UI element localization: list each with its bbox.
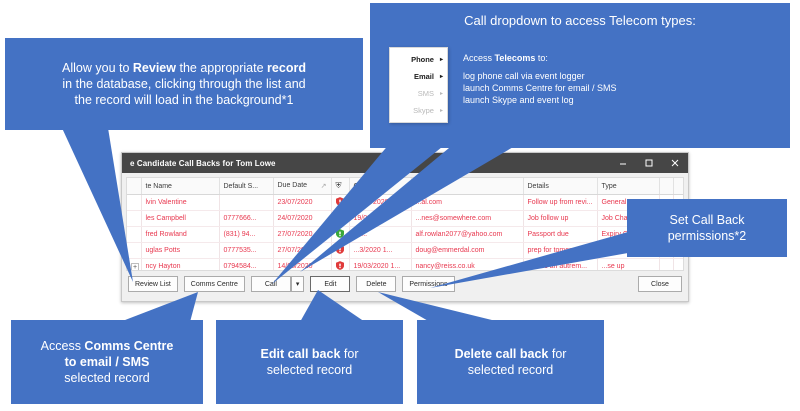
cell-details: Job follow up — [523, 211, 597, 227]
menu-item-label: Phone — [396, 55, 440, 64]
callout-line: Set Call Back — [637, 212, 777, 228]
grid-column-header-type[interactable]: Type — [597, 178, 659, 195]
telecom-info-line: log phone call via event logger — [463, 70, 617, 82]
callout-line: selected record — [21, 370, 193, 386]
edit-button[interactable]: Edit — [310, 276, 350, 292]
dialog-title: e Candidate Call Backs for Tom Lowe — [130, 159, 610, 168]
callout-line: Access Comms Centre — [21, 338, 193, 354]
cell-shield — [331, 195, 349, 211]
cell-created: 19... — [349, 227, 411, 243]
chevron-right-icon: ▸ — [440, 90, 443, 97]
cell-due: 27/07/2020 — [273, 243, 331, 259]
call-backs-grid[interactable]: te NameDefault S...Due Date↗⛨CreatedDeta… — [126, 177, 684, 271]
cell-name: uglas Potts — [141, 243, 219, 259]
callout-line: in the database, clicking through the li… — [15, 76, 353, 92]
dialog-titlebar: e Candidate Call Backs for Tom Lowe — [122, 153, 688, 173]
callout-line: to email / SMS — [21, 354, 193, 370]
cell-name: les Campbell — [141, 211, 219, 227]
cell-expander — [127, 211, 141, 227]
cell-name: fred Rowland — [141, 227, 219, 243]
delete-button[interactable]: Delete — [356, 276, 396, 292]
callout-line: the record will load in the background*1 — [15, 92, 353, 108]
review-list-button[interactable]: Review List — [128, 276, 178, 292]
table-row[interactable]: uglas Potts0777535...27/07/2020...3/2020… — [127, 243, 684, 259]
cell-shield — [331, 227, 349, 243]
cell-due: 27/07/2020 — [273, 227, 331, 243]
telecom-info-line: launch Skype and event log — [463, 94, 617, 106]
callout-line: Allow you to Review the appropriate reco… — [15, 60, 353, 76]
menu-item-label: Skype — [396, 106, 440, 115]
menu-item-email[interactable]: Email▸ — [390, 68, 447, 85]
table-row[interactable]: les Campbell0777666...24/07/202019/03/2.… — [127, 211, 684, 227]
table-row[interactable]: lvin Valentine23/07/202019/03/2020 .....… — [127, 195, 684, 211]
chevron-right-icon: ▸ — [440, 56, 443, 63]
grid-column-header-expander[interactable] — [127, 178, 141, 195]
shield-icon — [336, 213, 344, 222]
cell-phone: 0777535... — [219, 243, 273, 259]
close-icon[interactable] — [662, 153, 688, 173]
callout-line: Delete call back for — [427, 346, 594, 362]
cell-phone: 0777666... — [219, 211, 273, 227]
callout-line: permissions*2 — [637, 228, 777, 244]
cell-expander — [127, 243, 141, 259]
screenshot-root: e Candidate Call Backs for Tom Lowe te N… — [0, 0, 800, 411]
sort-indicator-icon: ↗ — [321, 182, 327, 190]
grid-column-header-name[interactable]: te Name — [141, 178, 219, 195]
grid-column-header-x1[interactable] — [659, 178, 673, 195]
table-row[interactable]: fred Rowland(831) 94...27/07/202019...al… — [127, 227, 684, 243]
cell-email: ...nes@somewhere.com — [411, 211, 523, 227]
cell-phone: (831) 94... — [219, 227, 273, 243]
cell-due: 23/07/2020 — [273, 195, 331, 211]
cell-shield — [331, 243, 349, 259]
telecom-info-block: Access Telecoms to: log phone call via e… — [463, 52, 617, 106]
grid-column-header-shield[interactable]: ⛨ — [331, 178, 349, 195]
cell-expander — [127, 227, 141, 243]
grid-column-header-x2[interactable] — [673, 178, 684, 195]
call-button[interactable]: Call — [251, 276, 291, 292]
grid-column-header-created[interactable]: Created — [349, 178, 411, 195]
shield-icon: ⛨ — [336, 181, 342, 190]
cell-expander — [127, 195, 141, 211]
comms-centre-button[interactable]: Comms Centre — [184, 276, 245, 292]
grid-column-header-details[interactable]: Details — [523, 178, 597, 195]
dialog-button-bar: Review ListComms CentreCall▾EditDeletePe… — [122, 267, 688, 301]
telecom-info-heading: Access Telecoms to: — [463, 52, 617, 64]
cell-shield — [331, 211, 349, 227]
call-backs-dialog: e Candidate Call Backs for Tom Lowe te N… — [121, 152, 689, 302]
grid-header-row: te NameDefault S...Due Date↗⛨CreatedDeta… — [127, 178, 684, 195]
callout-line: selected record — [427, 362, 594, 378]
delete-call-back-callout: Delete call back for selected record — [417, 320, 604, 404]
cell-email: doug@emmerdal.com — [411, 243, 523, 259]
shield-icon — [336, 229, 344, 238]
menu-item-label: Email — [396, 72, 440, 81]
maximize-icon[interactable] — [636, 153, 662, 173]
cell-details: Follow up from revi... — [523, 195, 597, 211]
cell-created: ...3/2020 1... — [349, 243, 411, 259]
review-record-callout: Allow you to Review the appropriate reco… — [5, 38, 363, 130]
callout-line: selected record — [226, 362, 393, 378]
call-dropdown-heading: Call dropdown to access Telecom types: — [380, 13, 780, 30]
cell-details: prep for tomorrow — [523, 243, 597, 259]
cell-name: lvin Valentine — [141, 195, 219, 211]
comms-centre-callout: Access Comms Centre to email / SMS selec… — [11, 320, 203, 404]
menu-item-skype: Skype▸ — [390, 102, 447, 119]
grid-column-header-email[interactable] — [411, 178, 523, 195]
call-dropdown-arrow-button[interactable]: ▾ — [291, 276, 305, 292]
chevron-right-icon: ▸ — [440, 107, 443, 114]
shield-icon — [336, 197, 344, 206]
callout-line: Edit call back for — [226, 346, 393, 362]
edit-call-back-callout: Edit call back for selected record — [216, 320, 403, 404]
cell-email: ...al.com — [411, 195, 523, 211]
grid-column-header-phone[interactable]: Default S... — [219, 178, 273, 195]
cell-details: Passport due — [523, 227, 597, 243]
minimize-icon[interactable] — [610, 153, 636, 173]
telecom-info-line: launch Comms Centre for email / SMS — [463, 82, 617, 94]
chevron-right-icon: ▸ — [440, 73, 443, 80]
cell-email: alf.rowlan2077@yahoo.com — [411, 227, 523, 243]
grid-column-header-due[interactable]: Due Date↗ — [273, 178, 331, 195]
telecom-dropdown-menu[interactable]: Phone▸Email▸SMS▸Skype▸ — [389, 47, 448, 123]
permissions-button[interactable]: Permissions — [402, 276, 454, 292]
shield-icon — [336, 245, 344, 254]
cell-due: 24/07/2020 — [273, 211, 331, 227]
cell-created: 19/03/2... — [349, 211, 411, 227]
menu-item-label: SMS — [396, 89, 440, 98]
close-button[interactable]: Close — [638, 276, 682, 292]
menu-item-phone[interactable]: Phone▸ — [390, 51, 447, 68]
menu-item-sms: SMS▸ — [390, 85, 447, 102]
cell-created: 19/03/2020 ... — [349, 195, 411, 211]
cell-phone — [219, 195, 273, 211]
set-permissions-callout: Set Call Back permissions*2 — [627, 199, 787, 257]
